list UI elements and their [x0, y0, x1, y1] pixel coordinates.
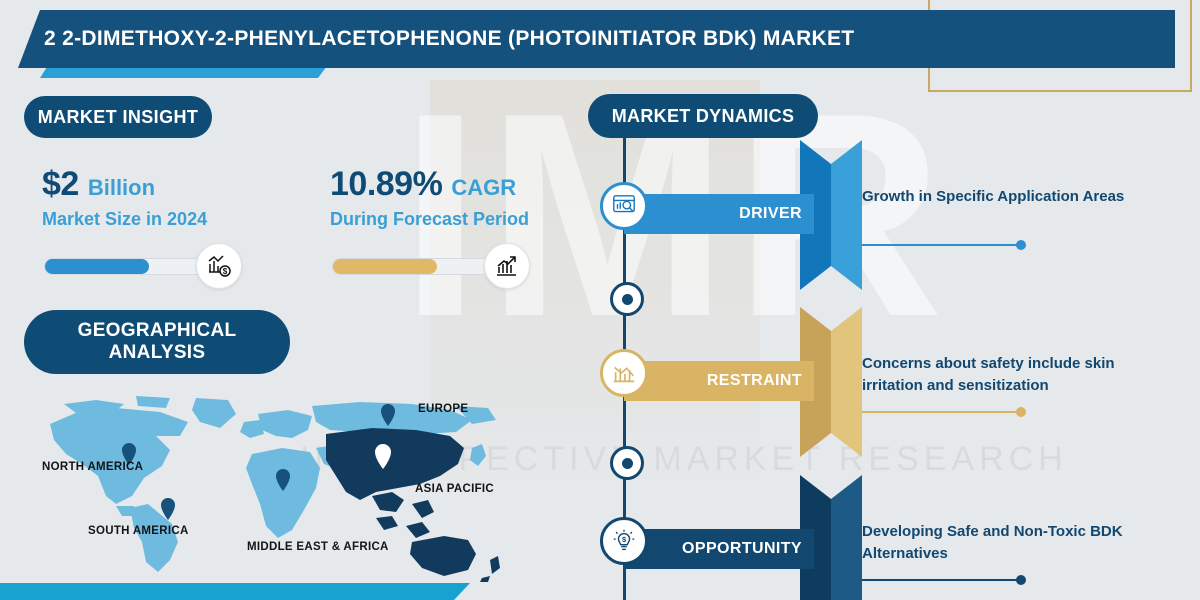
map-label-europe: EUROPE — [418, 403, 468, 415]
cagr-progress-track — [332, 258, 502, 275]
stat-market-size: $2 Billion Market Size in 2024 — [42, 165, 302, 230]
bottom-accent-bar — [0, 583, 470, 600]
svg-text:$: $ — [622, 535, 627, 544]
driver-label: DRIVER — [739, 205, 802, 223]
opportunity-leader-dot — [1016, 575, 1026, 585]
dynamics-item-driver: DRIVER Growth in Specific Application Ar… — [600, 182, 1200, 246]
stat-unit: CAGR — [451, 175, 516, 201]
market-size-progress-fill — [45, 259, 149, 274]
title-banner: 2 2-DIMETHOXY-2-PHENYLACETOPHENONE (PHOT… — [18, 10, 1175, 68]
stat-subtitle: During Forecast Period — [330, 209, 610, 230]
opportunity-label-bar: OPPORTUNITY — [624, 529, 814, 569]
geo-pill-line2: ANALYSIS — [78, 342, 237, 364]
restraint-description: Concerns about safety include skin irrit… — [862, 353, 1162, 397]
growth-chart-arrow-icon — [484, 243, 530, 289]
restraint-leader-line — [862, 411, 1022, 413]
restraint-leader-dot — [1016, 407, 1026, 417]
restraint-label-bar: RESTRAINT — [624, 361, 814, 401]
dynamics-item-opportunity: OPPORTUNITY $ Developing Safe and Non-To… — [600, 517, 1200, 581]
page-title: 2 2-DIMETHOXY-2-PHENYLACETOPHENONE (PHOT… — [18, 27, 854, 51]
stat-unit: Billion — [88, 175, 155, 201]
opportunity-description: Developing Safe and Non-Toxic BDK Altern… — [862, 521, 1162, 565]
market-size-progress-track — [44, 258, 214, 275]
analytics-search-icon — [600, 182, 648, 230]
stat-value: $2 — [42, 165, 79, 204]
map-label-south-america: SOUTH AMERICA — [88, 525, 189, 537]
stat-value: 10.89% — [330, 165, 442, 204]
stat-cagr: 10.89% CAGR During Forecast Period — [330, 165, 610, 230]
declining-bar-chart-icon — [600, 349, 648, 397]
map-label-middle-east-africa: MIDDLE EAST & AFRICA — [247, 541, 389, 553]
geo-pill-line1: GEOGRAPHICAL — [78, 320, 237, 342]
stat-subtitle: Market Size in 2024 — [42, 209, 302, 230]
market-insight-pill: MARKET INSIGHT — [24, 96, 212, 138]
opportunity-leader-line — [862, 579, 1022, 581]
map-label-asia-pacific: ASIA PACIFIC — [415, 483, 494, 495]
driver-description: Growth in Specific Application Areas — [862, 186, 1162, 208]
market-dynamics-pill: MARKET DYNAMICS — [588, 94, 818, 138]
infographic-root: IMR INTROSPECTIVE MARKET RESEARCH 2 2-DI… — [0, 0, 1200, 600]
restraint-label: RESTRAINT — [707, 372, 802, 390]
dynamics-item-restraint: RESTRAINT Concerns about safety include … — [600, 349, 1200, 413]
timeline-node-2 — [610, 446, 644, 480]
lightbulb-dollar-icon: $ — [600, 517, 648, 565]
driver-leader-dot — [1016, 240, 1026, 250]
geographical-analysis-pill: GEOGRAPHICAL ANALYSIS — [24, 310, 290, 374]
bar-chart-dollar-icon: $ — [196, 243, 242, 289]
driver-label-bar: DRIVER — [624, 194, 814, 234]
map-label-north-america: NORTH AMERICA — [42, 461, 143, 473]
timeline-node-1 — [610, 282, 644, 316]
opportunity-label: OPPORTUNITY — [682, 540, 802, 558]
svg-text:$: $ — [223, 267, 228, 276]
cagr-progress-fill — [333, 259, 437, 274]
driver-leader-line — [862, 244, 1022, 246]
